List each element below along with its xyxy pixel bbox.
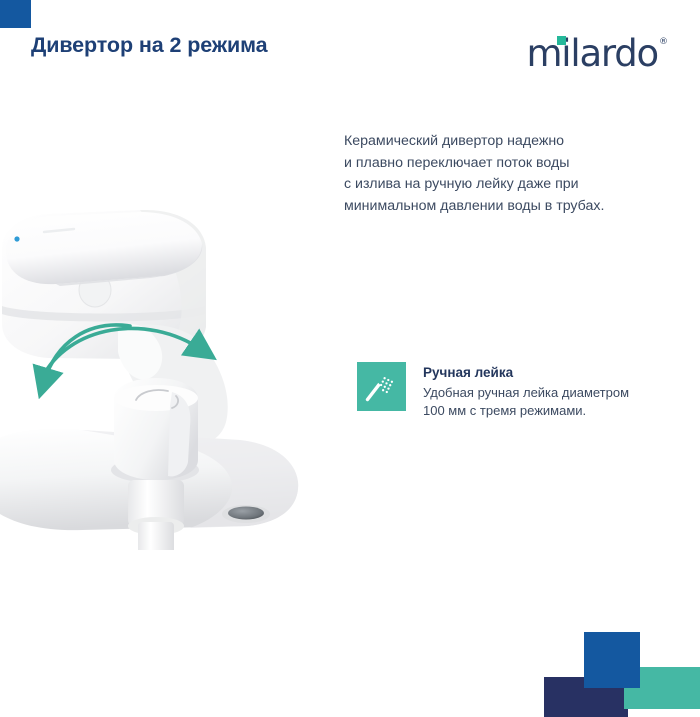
description-line-3: с излива на ручную лейку даже при: [344, 174, 644, 196]
hand-shower-glyph: [357, 362, 406, 411]
product-image-bath-shower-mixer-faucet: [0, 130, 330, 550]
description-line-2: и плавно переключает поток воды: [344, 153, 644, 175]
brand-logo: milardo ®: [526, 35, 668, 75]
registered-mark: ®: [659, 37, 668, 47]
feature-text-block: Ручная лейка Удобная ручная лейка диамет…: [423, 362, 629, 420]
feature-description-line-1: Удобная ручная лейка диаметром: [423, 384, 629, 402]
description-paragraph: Керамический дивертор надежно и плавно п…: [344, 131, 644, 217]
aerator-outlet-icon: [228, 507, 264, 520]
shower-connector-tube: [138, 522, 174, 550]
decoration-blue-square: [584, 632, 640, 688]
faucet-illustration: [0, 130, 330, 550]
hand-shower-icon: [357, 362, 406, 411]
teal-square-dot-icon: [557, 36, 566, 45]
knob-grip-fin: [168, 392, 190, 476]
lever-indicator-dot: [14, 236, 19, 241]
feature-description-line-2: 100 мм с тремя режимами.: [423, 402, 629, 420]
description-line-1: Керамический дивертор надежно: [344, 131, 644, 153]
feature-hand-shower: Ручная лейка Удобная ручная лейка диамет…: [357, 362, 629, 420]
page-title: Дивертор на 2 режима: [31, 33, 267, 58]
logo-wordmark-text: milardo: [526, 35, 658, 72]
description-line-4: минимальном давлении воды в трубах.: [344, 196, 644, 218]
feature-description: Удобная ручная лейка диаметром 100 мм с …: [423, 384, 629, 420]
corner-accent-square: [0, 0, 31, 28]
feature-title: Ручная лейка: [423, 364, 629, 381]
